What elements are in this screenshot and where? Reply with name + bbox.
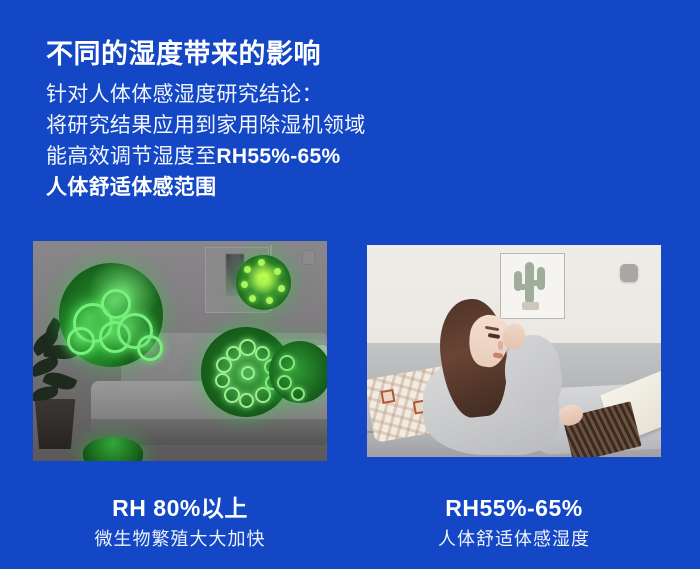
- pillow-motif: [380, 389, 395, 404]
- captions-row: RH 80%以上 微生物繁殖大大加快 RH55%-65% 人体舒适体感湿度: [0, 494, 700, 569]
- caption-comfort-humidity: RH55%-65% 人体舒适体感湿度: [367, 494, 661, 551]
- microbe-spike: [249, 295, 256, 302]
- caption-subtitle: 微生物繁殖大大加快: [33, 527, 327, 551]
- intro-paragraph: 针对人体体感湿度研究结论： 将研究结果应用到家用除湿机领域 能高效调节湿度至RH…: [46, 79, 366, 203]
- microbe-ring: [279, 355, 295, 371]
- microbe-virus-small: [236, 255, 291, 310]
- wall-thermostat-icon: [620, 264, 638, 282]
- microbe-spike: [258, 259, 265, 266]
- living-room-bright-scene: [367, 245, 661, 457]
- intro-line-2: 将研究结果应用到家用除湿机领域: [46, 110, 366, 141]
- microbe-ring: [215, 373, 230, 388]
- microbe-ring: [291, 387, 305, 401]
- microbe-ring: [239, 393, 254, 408]
- microbe-spike: [278, 285, 285, 292]
- plant-pot: [33, 399, 77, 449]
- panel-image-high-humidity: [33, 241, 327, 461]
- page-title: 不同的湿度带来的影响: [46, 37, 321, 71]
- microbe-ring: [224, 387, 240, 403]
- intro-line-4: 人体舒适体感范围: [46, 172, 366, 203]
- caption-title: RH55%-65%: [367, 494, 661, 523]
- intro-line-3: 能高效调节湿度至RH55%-65%: [46, 141, 366, 172]
- microbe-spike: [266, 297, 273, 304]
- panel-image-comfort-humidity: [367, 245, 661, 457]
- microbe-cluster-large: [59, 263, 163, 367]
- microbe-virus-edge: [269, 341, 327, 403]
- slide-root: 不同的湿度带来的影响 针对人体体感湿度研究结论： 将研究结果应用到家用除湿机领域…: [0, 0, 700, 569]
- microbe-ring: [239, 339, 256, 356]
- microbe-cell: [67, 327, 95, 355]
- cactus-stem-left: [517, 284, 527, 290]
- caption-title: RH 80%以上: [33, 494, 327, 523]
- microbe-ring: [255, 387, 271, 403]
- caption-high-humidity: RH 80%以上 微生物繁殖大大加快: [33, 494, 327, 551]
- cactus-stem-right: [532, 280, 542, 286]
- cactus-arm-right: [537, 267, 545, 290]
- wall-switch-icon: [303, 251, 314, 264]
- photo-row: [0, 241, 700, 463]
- microbe-cell: [137, 335, 163, 361]
- microbe-ring: [241, 366, 255, 380]
- intro-line-1: 针对人体体感湿度研究结论：: [46, 79, 366, 110]
- microbe-ring: [277, 375, 292, 390]
- intro-line-3-prefix: 能高效调节湿度至: [46, 145, 216, 168]
- microbe-spike: [244, 266, 251, 273]
- caption-subtitle: 人体舒适体感湿度: [367, 527, 661, 551]
- microbe-ring: [226, 346, 241, 361]
- living-room-dark-scene: [33, 241, 327, 461]
- intro-line-3-highlight: RH55%-65%: [216, 145, 340, 168]
- woman-figure: [419, 297, 595, 445]
- microbe-spike: [241, 281, 248, 288]
- microbe-spike: [274, 268, 281, 275]
- microbe-spike: [260, 277, 267, 284]
- microbe-partial-bottom: [83, 437, 143, 461]
